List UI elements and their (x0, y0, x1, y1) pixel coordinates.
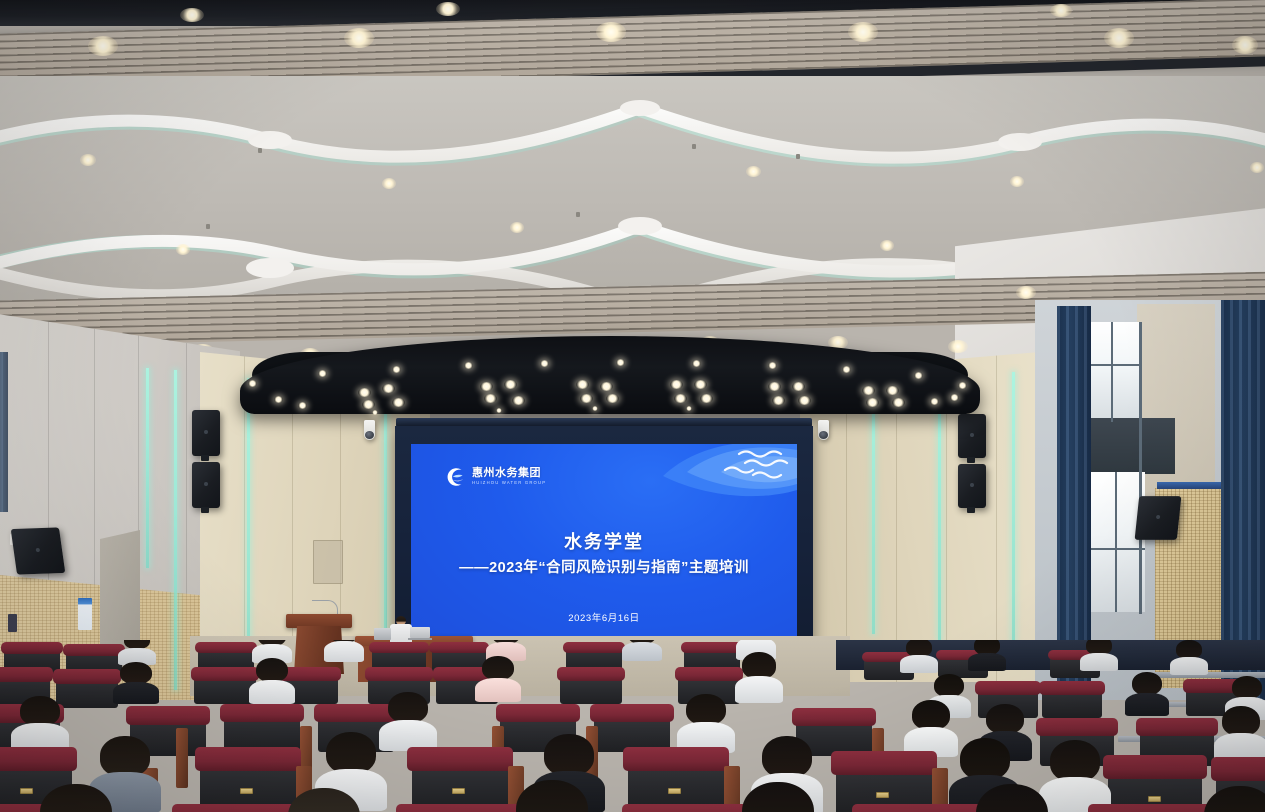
audience-person (124, 640, 150, 662)
ceiling-downlight (1250, 162, 1264, 173)
slide-subtitle: ——2023年“合同风险识别与指南”主题培训 (411, 556, 797, 577)
audience-person (1222, 706, 1260, 758)
slide-title: 水务学堂 (411, 528, 797, 554)
slide-wave-decoration (607, 444, 797, 524)
ceiling-downlight (1050, 4, 1072, 17)
presenter-laptop (408, 627, 432, 640)
wooden-lectern-top (286, 614, 352, 628)
window-mullion (1091, 548, 1145, 550)
seat-number-plate (876, 792, 889, 798)
audience-person (628, 640, 656, 658)
ceiling-downlight (180, 8, 204, 22)
ceiling-downlight (176, 244, 190, 255)
line-array-speaker (958, 464, 986, 508)
audience-person (742, 782, 814, 812)
sprinkler-head (796, 154, 800, 159)
stage-light-array (240, 336, 980, 414)
ceiling-downlight (1104, 28, 1134, 48)
sprinkler-head (206, 224, 210, 229)
ceiling-downlight (88, 36, 118, 56)
auditorium-photo: 惠州水务集团 HUIZHOU WATER GROUP 水务学堂 ——2023年“… (0, 0, 1265, 812)
window-curtain-far-left (0, 352, 8, 512)
line-array-speaker (11, 527, 66, 574)
wall-led-strip (872, 376, 875, 634)
audience-seat[interactable] (224, 708, 300, 752)
window-glass (1091, 472, 1145, 612)
audience-person (388, 692, 428, 746)
audience-seat[interactable] (560, 670, 622, 704)
wall-led-strip (247, 378, 250, 678)
audience-person (1176, 640, 1202, 672)
ceiling-downlight (344, 28, 374, 48)
audience-seat[interactable] (594, 708, 670, 752)
ceiling-downlight (746, 166, 761, 177)
audience-person (1204, 786, 1265, 812)
window-mullion (1111, 322, 1113, 422)
window-glass (1087, 322, 1139, 420)
audience-person (40, 784, 112, 812)
sprinkler-head (576, 212, 580, 217)
audience-person (482, 656, 514, 698)
speaker-bracket (967, 507, 975, 513)
projection-screen-frame: 惠州水务集团 HUIZHOU WATER GROUP 水务学堂 ——2023年“… (395, 426, 813, 664)
seat-arm-wood (176, 728, 188, 788)
line-array-speaker (192, 462, 220, 508)
line-array-speaker (192, 410, 220, 456)
sprinkler-head (258, 148, 262, 153)
ceiling-downlight (1016, 286, 1036, 299)
seat-number-plate (452, 788, 465, 794)
audience-person (974, 640, 1000, 668)
window-mullion (1139, 322, 1142, 614)
window-mullion (1087, 364, 1139, 366)
speaker-bracket (201, 507, 209, 513)
presenter-monitor (374, 628, 391, 640)
audience-person (1050, 740, 1100, 812)
audience-person (256, 658, 288, 700)
audience-person (1132, 672, 1162, 712)
audience-person (258, 640, 286, 660)
ceiling-downlight (1232, 36, 1258, 54)
ceiling-downlight (596, 22, 626, 42)
audience-person (120, 662, 152, 700)
seat-number-plate (240, 788, 253, 794)
sprinkler-head (692, 144, 696, 149)
slide-logo: 惠州水务集团 HUIZHOU WATER GROUP (445, 466, 546, 488)
seat-number-plate (1148, 796, 1161, 802)
window-spandrel (1087, 418, 1175, 474)
slide-date: 2023年6月16日 (411, 610, 797, 624)
audience-seat[interactable] (56, 672, 118, 708)
audience-person (1086, 640, 1112, 668)
audience-seating-area (0, 640, 1265, 812)
audience-person (330, 640, 358, 658)
audience-person (742, 652, 776, 698)
audience-person (20, 696, 60, 748)
ptz-camera-right (818, 420, 829, 440)
wall-information-panel (78, 598, 92, 630)
audience-person (906, 640, 932, 670)
window-mullion (1115, 472, 1117, 612)
audience-seat[interactable] (194, 670, 256, 704)
ceiling-downlight (382, 178, 396, 189)
wall-led-strip (384, 380, 387, 632)
ceiling-downlight (510, 222, 524, 233)
wall-speaker-right (1135, 496, 1182, 540)
ceiling-downlight (436, 2, 460, 16)
seat-number-plate (668, 788, 681, 794)
slide-logo-company-cn: 惠州水务集团 (472, 468, 546, 479)
ceiling-downlight (80, 154, 96, 166)
audience-person (686, 694, 726, 748)
audience-person (516, 780, 588, 812)
speaker-bracket (201, 455, 209, 461)
water-drop-swoosh-logo-icon (445, 466, 467, 488)
wall-switch-plate (8, 614, 17, 632)
audience-person (288, 788, 360, 812)
ceiling-downlight (848, 22, 878, 42)
ptz-camera-left (364, 420, 375, 440)
audience-person (912, 700, 950, 752)
seat-number-plate (20, 788, 33, 794)
window-head-trim (1157, 482, 1225, 489)
projection-screen-surface: 惠州水务集团 HUIZHOU WATER GROUP 水务学堂 ——2023年“… (411, 444, 797, 650)
ceiling-downlight (1010, 176, 1024, 187)
wall-led-strip (1012, 372, 1015, 642)
line-array-speaker (958, 414, 986, 458)
audience-seat[interactable] (1042, 684, 1102, 718)
wall-led-strip (146, 368, 149, 568)
audience-person (976, 784, 1048, 812)
slide-logo-company-en: HUIZHOU WATER GROUP (472, 481, 546, 485)
speaker-bracket (967, 457, 975, 463)
wall-access-hatch (313, 540, 343, 584)
ceiling-downlight (880, 240, 894, 251)
